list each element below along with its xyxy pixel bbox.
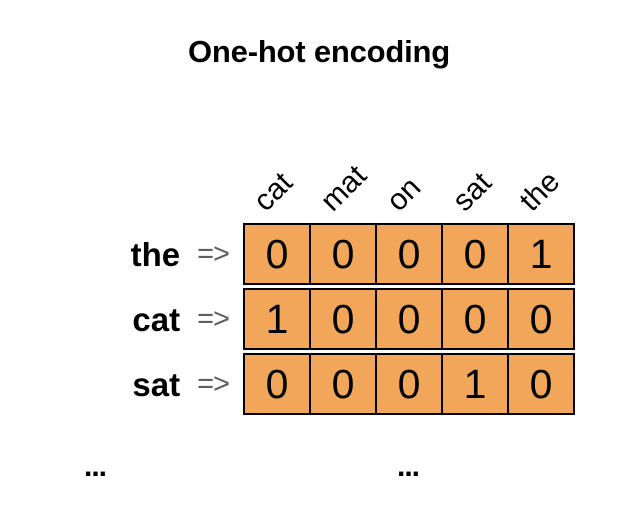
matrix-cell: 0	[443, 225, 509, 283]
matrix-row: 1 0 0 0 0	[243, 288, 575, 350]
column-header-label: mat	[315, 160, 372, 217]
ellipsis-rows: ...	[84, 452, 106, 482]
matrix-cell: 1	[509, 225, 573, 283]
matrix-cell: 0	[311, 355, 377, 413]
row-label-sat: sat =>	[0, 353, 243, 415]
matrix-cell: 1	[245, 290, 311, 348]
matrix-cell: 0	[377, 225, 443, 283]
ellipsis-cells: ...	[397, 452, 419, 482]
column-header-label: on	[382, 172, 427, 217]
row-word: sat	[132, 368, 180, 401]
matrix-cell: 0	[509, 290, 573, 348]
row-label-the: the =>	[0, 223, 243, 285]
matrix-cell: 0	[311, 225, 377, 283]
arrow-icon: =>	[197, 370, 229, 399]
matrix-cell: 0	[377, 290, 443, 348]
column-header-label: the	[515, 166, 566, 217]
matrix-row: 0 0 0 1 0	[243, 353, 575, 415]
matrix-row: 0 0 0 0 1	[243, 223, 575, 285]
arrow-icon: =>	[197, 305, 229, 334]
row-label-cat: cat =>	[0, 288, 243, 350]
matrix-cell: 0	[509, 355, 573, 413]
column-header-label: cat	[249, 167, 299, 217]
matrix-cell: 0	[443, 290, 509, 348]
matrix-cell: 0	[245, 225, 311, 283]
row-word: the	[131, 238, 181, 271]
page-title: One-hot encoding	[0, 34, 638, 70]
matrix-cell: 0	[311, 290, 377, 348]
row-word: cat	[132, 303, 180, 336]
column-header-label: sat	[448, 167, 498, 217]
one-hot-encoding-figure: One-hot encoding cat mat on sat the the …	[0, 0, 638, 522]
matrix-cell: 0	[377, 355, 443, 413]
matrix-cell: 1	[443, 355, 509, 413]
arrow-icon: =>	[197, 240, 229, 269]
matrix-cell: 0	[245, 355, 311, 413]
